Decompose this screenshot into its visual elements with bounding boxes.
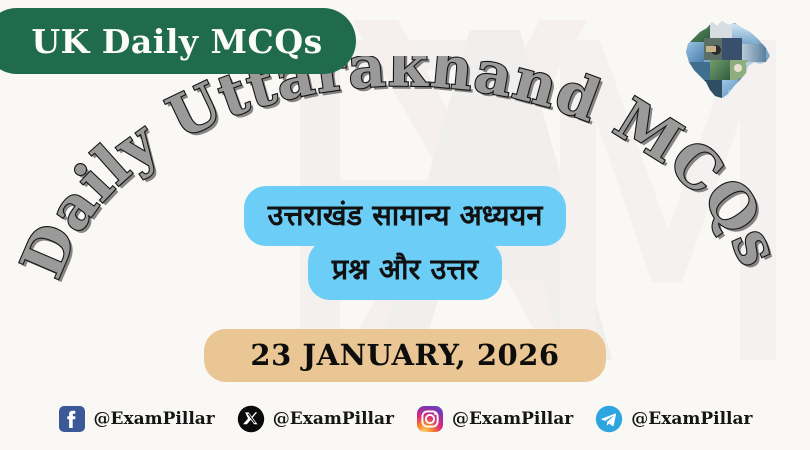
- social-item-telegram[interactable]: @ExamPillar: [595, 405, 752, 433]
- hindi-title-line-2: प्रश्न और उत्तर: [308, 240, 503, 300]
- social-handle-facebook: @ExamPillar: [94, 409, 215, 429]
- social-handle-telegram: @ExamPillar: [631, 409, 752, 429]
- social-handle-instagram: @ExamPillar: [452, 409, 573, 429]
- header-banner: UK Daily MCQs: [0, 8, 356, 74]
- date-text: 23 JANUARY, 2026: [250, 338, 559, 372]
- hindi-title-line-1: उत्तराखंड सामान्य अध्ययन: [244, 186, 567, 246]
- facebook-icon[interactable]: [58, 405, 86, 433]
- date-pill: 23 JANUARY, 2026: [204, 329, 605, 382]
- social-item-instagram[interactable]: @ExamPillar: [416, 405, 573, 433]
- social-footer: @ExamPillar @ExamPillar: [0, 398, 810, 440]
- social-item-x[interactable]: @ExamPillar: [237, 405, 394, 433]
- x-twitter-icon[interactable]: [237, 405, 265, 433]
- date-banner: 23 JANUARY, 2026: [0, 329, 810, 382]
- instagram-icon[interactable]: [416, 405, 444, 433]
- header-banner-label: UK Daily MCQs: [31, 22, 322, 61]
- poster-canvas: UK Daily MCQs: [0, 0, 810, 450]
- hindi-title: उत्तराखंड सामान्य अध्ययन प्रश्न और उत्तर: [0, 186, 810, 300]
- social-handle-x: @ExamPillar: [273, 409, 394, 429]
- social-item-facebook[interactable]: @ExamPillar: [58, 405, 215, 433]
- uttarakhand-map-logo: [676, 6, 780, 110]
- telegram-icon[interactable]: [595, 405, 623, 433]
